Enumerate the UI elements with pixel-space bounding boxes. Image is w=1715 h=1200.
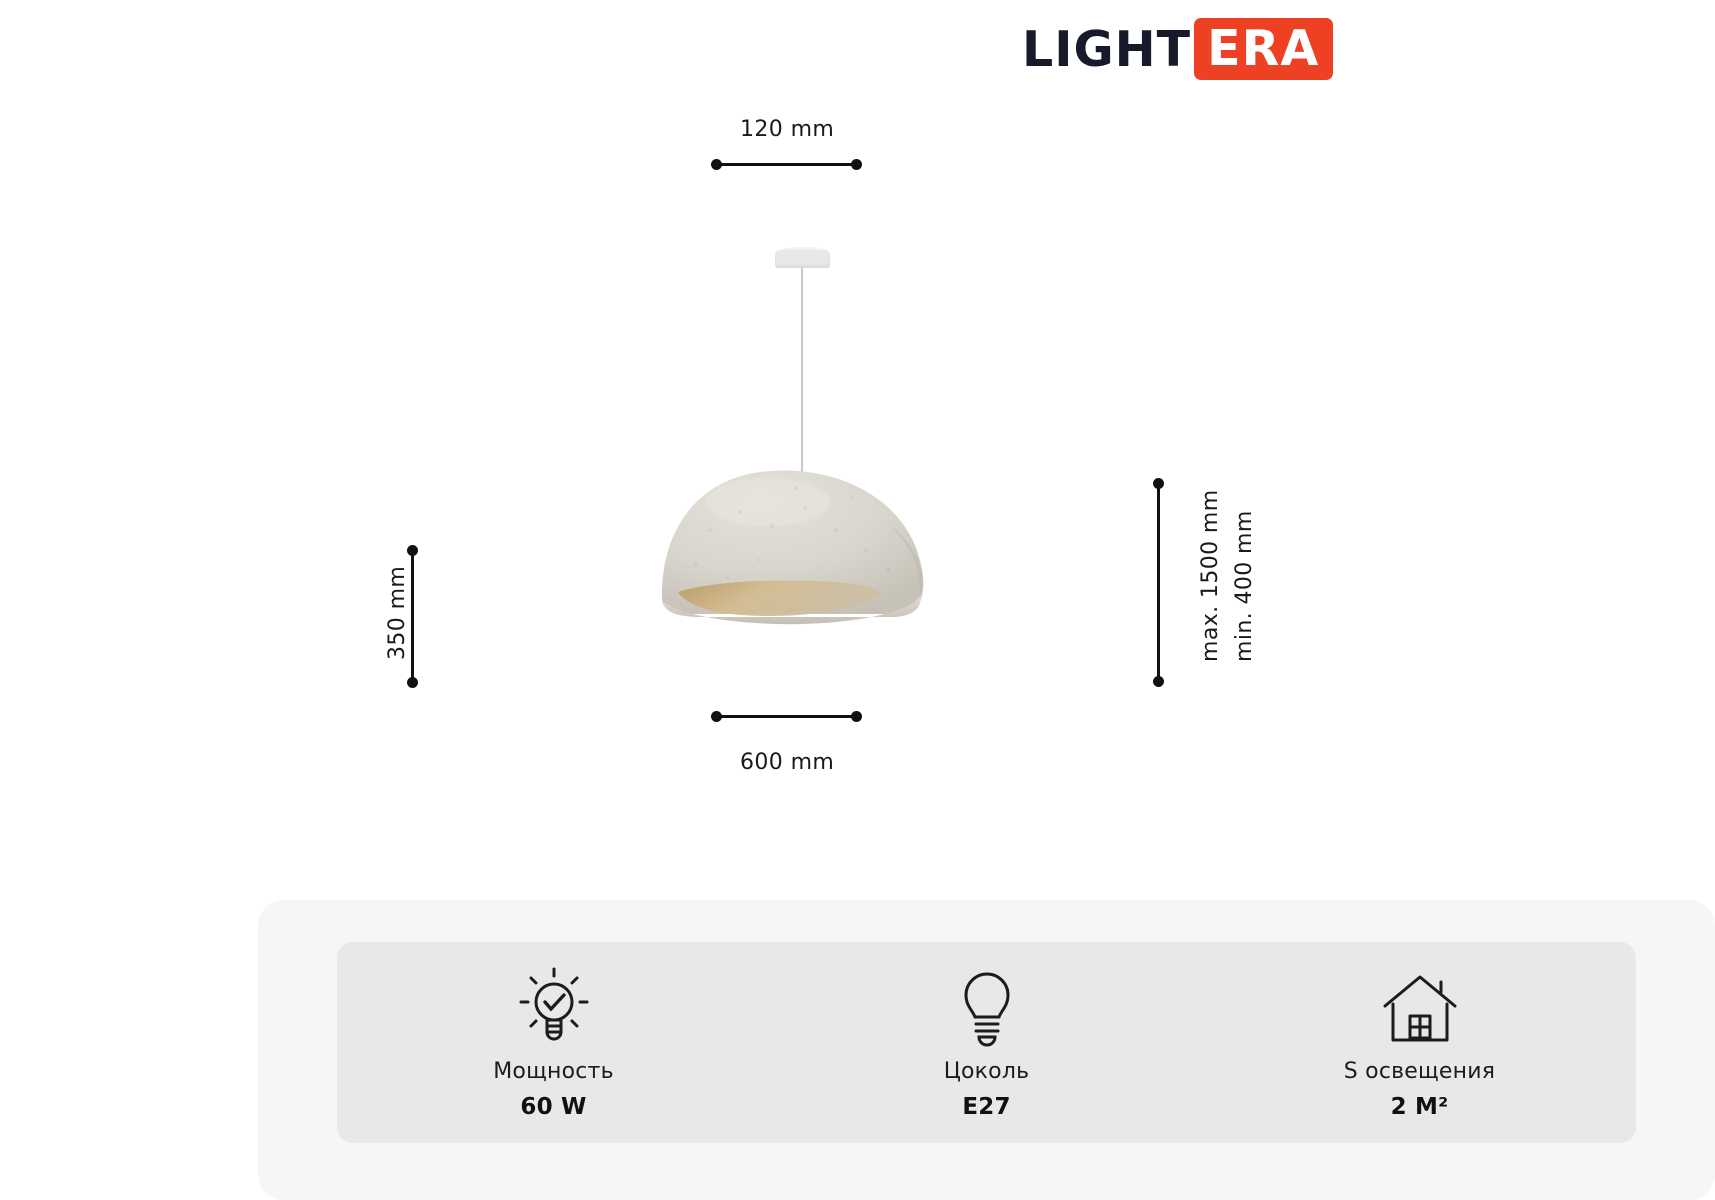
spec-label-socket: Цоколь: [944, 1059, 1030, 1084]
spec-value-area: 2 M²: [1391, 1094, 1449, 1120]
product-illustration: [600, 230, 1020, 680]
dimension-dot-bottom-right: [1153, 676, 1164, 687]
lamp-shade-svg: [600, 230, 1020, 680]
spec-value-power: 60 W: [520, 1094, 586, 1120]
brand-logo: LIGHT ERA: [1022, 18, 1333, 80]
dimension-dot-right-bottom: [851, 711, 862, 722]
spec-card-area: S освещения 2 M²: [1203, 965, 1636, 1120]
dimension-label-canopy-width: 120 mm: [740, 117, 834, 142]
dimension-dot-left-bottom: [711, 711, 722, 722]
spec-panel: Мощность 60 W Цоколь E27 S: [337, 942, 1636, 1143]
dimension-label-suspension-min: min. 400 mm: [1232, 510, 1257, 662]
logo-era-badge: ERA: [1194, 18, 1333, 80]
spec-card-power: Мощность 60 W: [337, 965, 770, 1120]
bulb-check-icon: [511, 965, 597, 1053]
dimension-dot-bottom: [407, 677, 418, 688]
dimension-label-suspension-max: max. 1500 mm: [1198, 489, 1223, 662]
logo-text-light: LIGHT: [1022, 25, 1194, 74]
dimension-line-shade-height: [411, 550, 414, 682]
spec-card-socket: Цоколь E27: [770, 965, 1203, 1120]
dimension-line-canopy-width: [715, 163, 858, 166]
dimension-dot-left: [711, 159, 722, 170]
spec-value-socket: E27: [962, 1094, 1010, 1120]
dimension-dot-right: [851, 159, 862, 170]
house-icon: [1375, 965, 1465, 1053]
logo-text-era: ERA: [1207, 24, 1319, 73]
dimension-label-shade-width: 600 mm: [740, 750, 834, 775]
dimension-label-shade-height: 350 mm: [385, 566, 410, 660]
spec-label-area: S освещения: [1344, 1059, 1495, 1084]
bulb-icon: [944, 965, 1030, 1053]
dimension-dot-top: [407, 545, 418, 556]
spec-label-power: Мощность: [493, 1059, 613, 1084]
dimension-line-shade-width: [715, 715, 858, 718]
dimension-dot-top-right: [1153, 478, 1164, 489]
dimension-line-suspension: [1157, 483, 1160, 681]
